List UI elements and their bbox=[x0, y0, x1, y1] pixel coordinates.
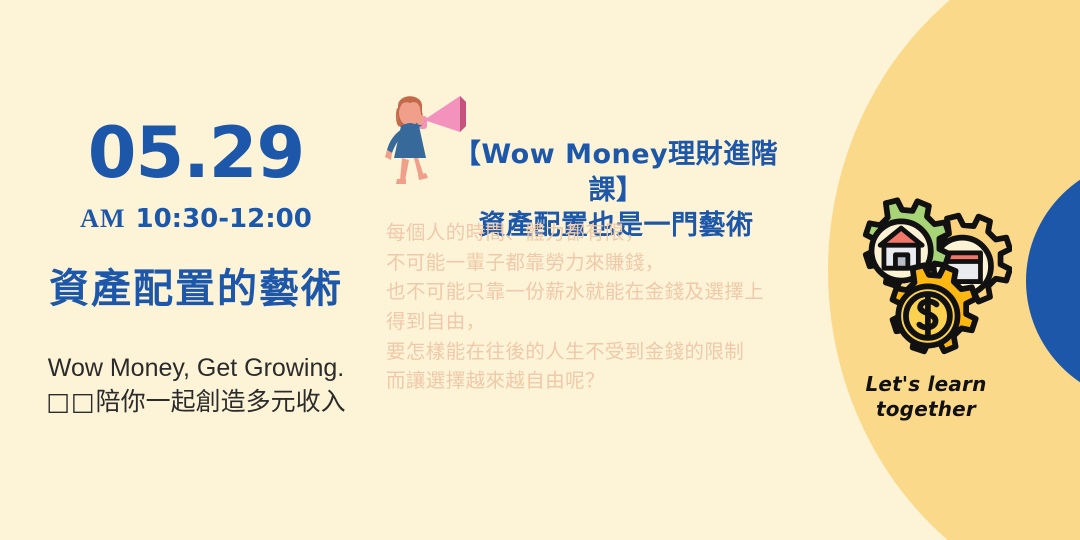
course-body-text: 每個人的時間、體力都有限， 不可能一輩子都靠勞力來賺錢， 也不可能只靠一份薪水就… bbox=[386, 219, 798, 397]
event-time-range: 10:30-12:00 bbox=[136, 204, 312, 234]
tagline-emoji-fallback: □□ bbox=[46, 387, 95, 416]
tagline-block: Wow Money, Get Growing. □□陪你一起創造多元收入 bbox=[0, 352, 392, 418]
event-time-period: AM bbox=[80, 204, 125, 233]
event-info-column: 05.29 AM10:30-12:00 資產配置的藝術 Wow Money, G… bbox=[0, 118, 392, 418]
right-illustration-column: Let's learn together bbox=[826, 186, 1026, 422]
learn-together-slogan: Let's learn together bbox=[826, 372, 1026, 422]
promo-banner: 05.29 AM10:30-12:00 資產配置的藝術 Wow Money, G… bbox=[0, 0, 1080, 540]
tagline-english: Wow Money, Get Growing. bbox=[0, 352, 392, 384]
course-title-line1: 【Wow Money理財進階課】 bbox=[434, 137, 798, 208]
tagline-chinese: □□陪你一起創造多元收入 bbox=[0, 386, 392, 418]
event-headline: 資產配置的藝術 bbox=[0, 256, 392, 314]
event-date: 05.29 bbox=[0, 118, 392, 188]
three-gears-house-store-dollar-icon bbox=[840, 186, 1012, 358]
slogan-line1: Let's learn bbox=[826, 372, 1026, 397]
slogan-line2: together bbox=[826, 397, 1026, 422]
tagline-chinese-text: 陪你一起創造多元收入 bbox=[96, 388, 346, 416]
event-time: AM10:30-12:00 bbox=[0, 204, 392, 234]
